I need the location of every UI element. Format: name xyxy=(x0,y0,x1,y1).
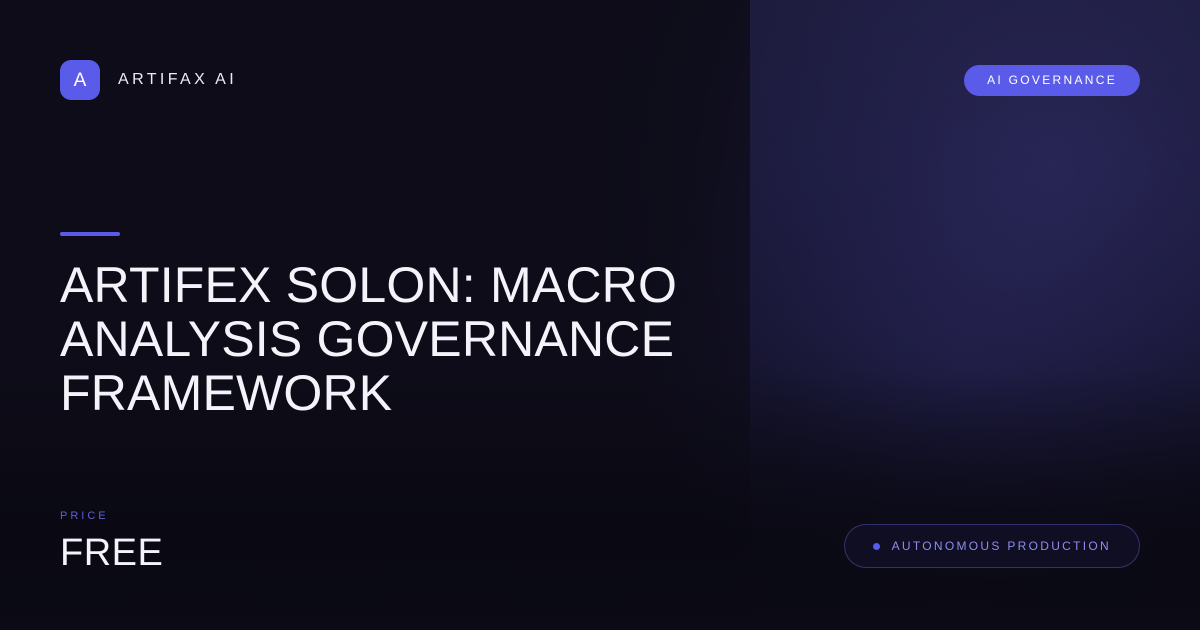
status-badge-label: AUTONOMOUS PRODUCTION xyxy=(892,539,1111,553)
status-badge[interactable]: AUTONOMOUS PRODUCTION xyxy=(844,524,1140,568)
footer: PRICE FREE AUTONOMOUS PRODUCTION xyxy=(60,510,1140,572)
price-value: FREE xyxy=(60,534,163,572)
header: A ARTIFAX AI AI GOVERNANCE xyxy=(60,60,1140,100)
title-block: ARTIFEX SOLON: MACRO ANALYSIS GOVERNANCE… xyxy=(60,232,920,420)
logo-mark-icon: A xyxy=(60,60,100,100)
price-label: PRICE xyxy=(60,510,163,522)
brand-logo[interactable]: A ARTIFAX AI xyxy=(60,60,237,100)
status-dot-icon xyxy=(873,543,880,550)
category-badge[interactable]: AI GOVERNANCE xyxy=(964,65,1140,96)
brand-name: ARTIFAX AI xyxy=(118,71,237,89)
page-title: ARTIFEX SOLON: MACRO ANALYSIS GOVERNANCE… xyxy=(60,258,860,420)
og-card: A ARTIFAX AI AI GOVERNANCE ARTIFEX SOLON… xyxy=(0,0,1200,630)
accent-bar xyxy=(60,232,120,236)
price-block: PRICE FREE xyxy=(60,510,163,572)
